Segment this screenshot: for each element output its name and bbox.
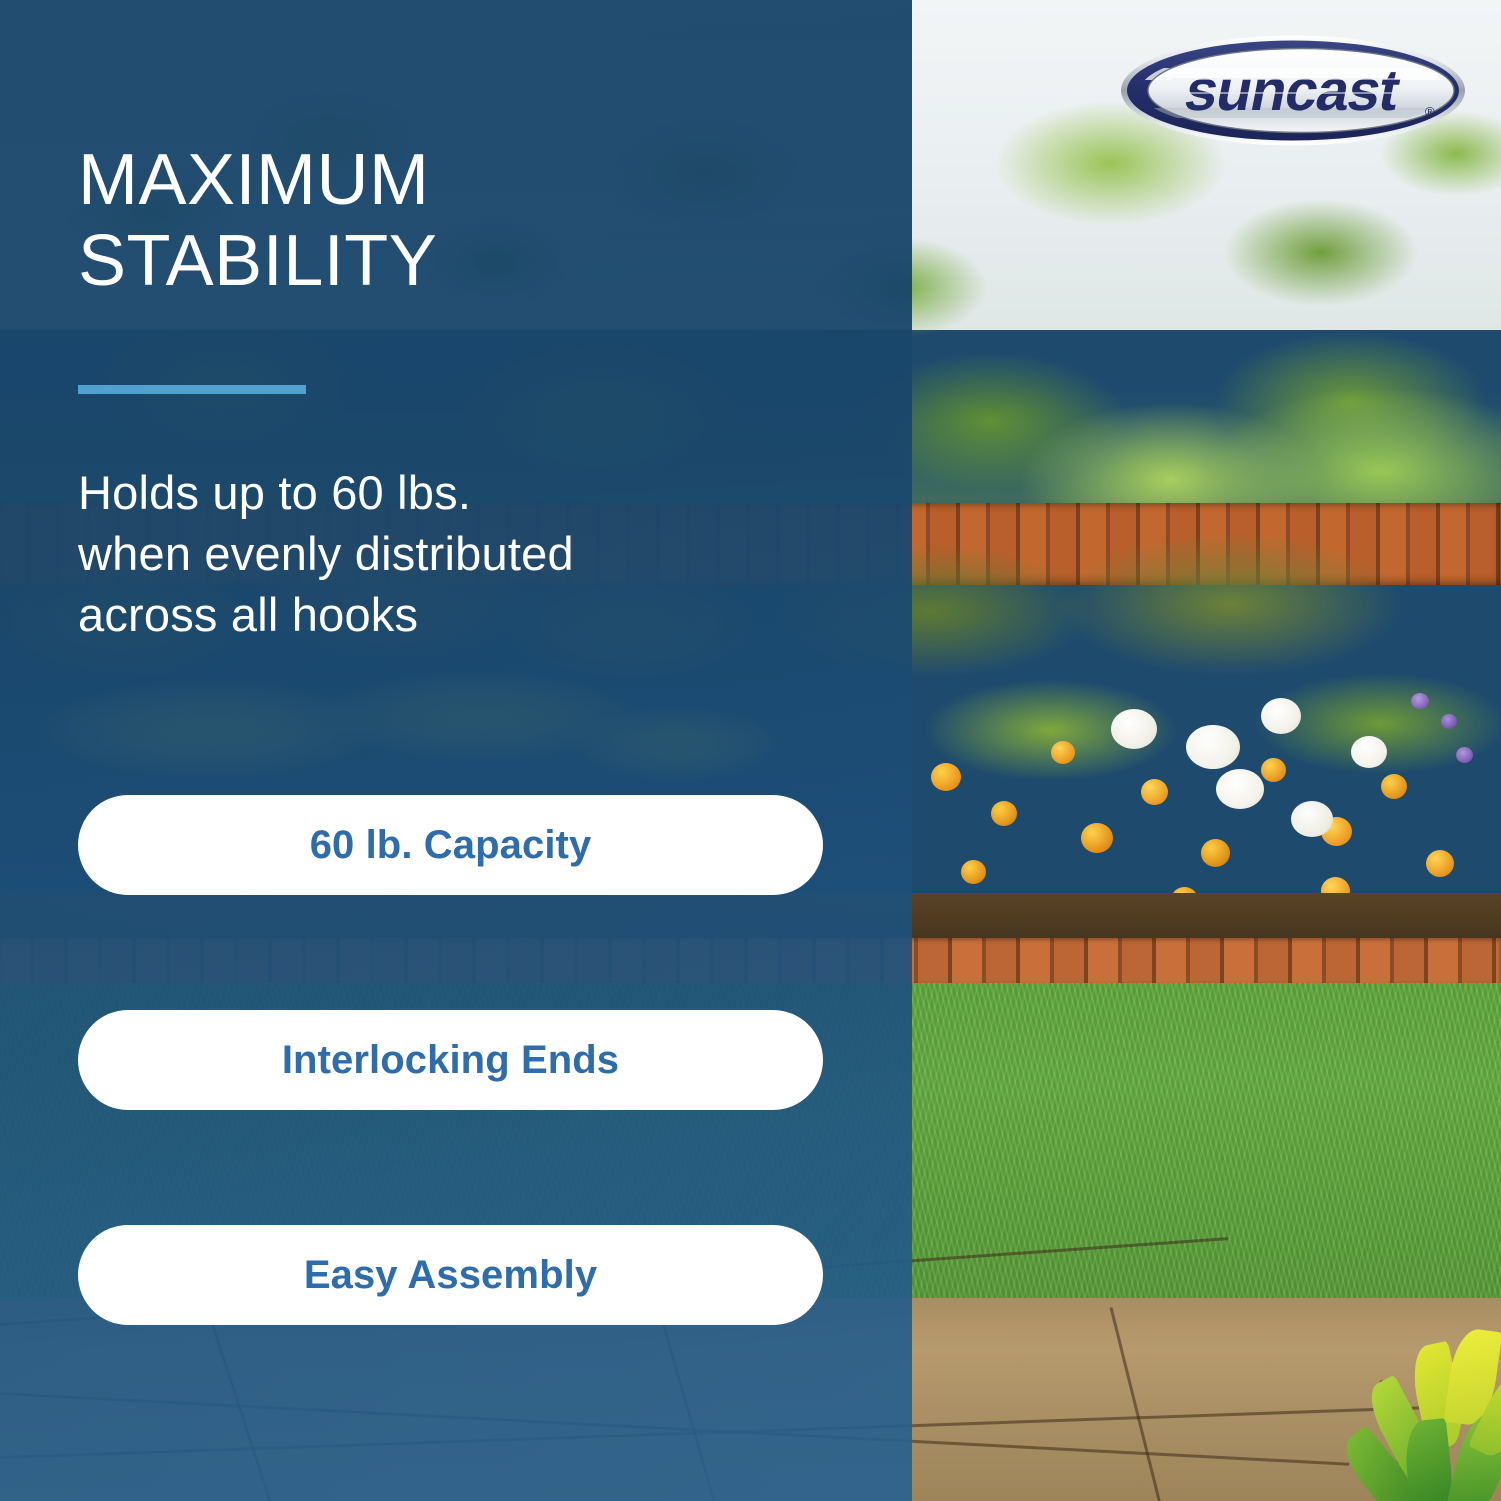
headline-line-2: STABILITY (78, 221, 437, 301)
feature-pill-interlocking: Interlocking Ends (78, 1010, 823, 1110)
feature-pill-list: 60 lb. Capacity Interlocking Ends Easy A… (78, 795, 823, 1325)
accent-divider (78, 385, 306, 394)
subtitle-line-2: when evenly distributed (78, 527, 574, 580)
logo-wordmark: suncast (1180, 58, 1405, 122)
suncast-logo: suncast ® (1119, 34, 1467, 147)
subtitle-text: Holds up to 60 lbs.when evenly distribut… (78, 462, 868, 645)
left-content-panel: MAXIMUMSTABILITY Holds up to 60 lbs.when… (0, 0, 912, 1501)
registered-trademark-symbol: ® (1425, 104, 1435, 119)
subtitle-line-1: Holds up to 60 lbs. (78, 466, 471, 519)
feature-pill-assembly: Easy Assembly (78, 1225, 823, 1325)
feature-pill-label: Interlocking Ends (282, 1038, 619, 1083)
page-title: MAXIMUMSTABILITY (78, 140, 838, 303)
feature-pill-label: 60 lb. Capacity (310, 823, 592, 868)
promo-graphic: MAXIMUMSTABILITY Holds up to 60 lbs.when… (0, 0, 1501, 1501)
headline-line-1: MAXIMUM (78, 140, 429, 220)
subtitle-line-3: across all hooks (78, 588, 418, 641)
foreground-leaves (1331, 1321, 1501, 1501)
feature-pill-label: Easy Assembly (304, 1253, 597, 1298)
feature-pill-capacity: 60 lb. Capacity (78, 795, 823, 895)
